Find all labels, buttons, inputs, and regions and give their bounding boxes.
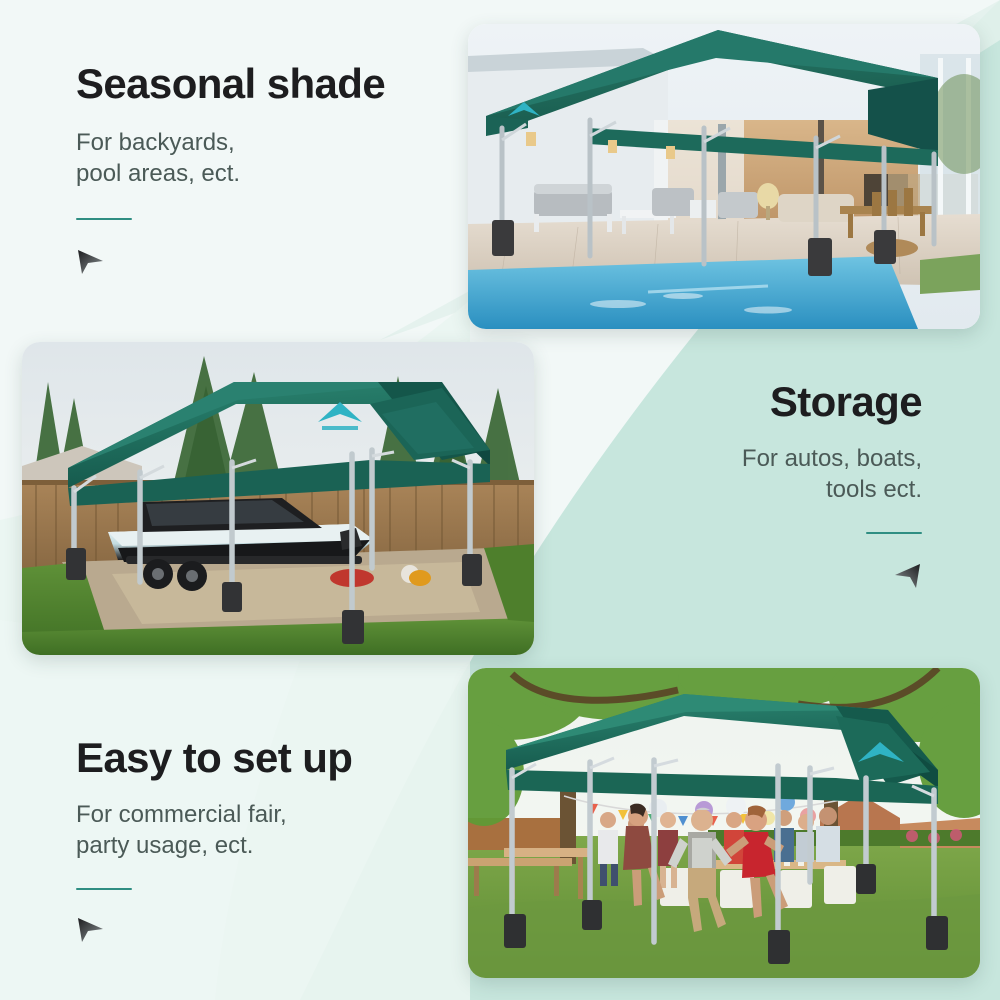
cursor-arrow-left-icon [742, 562, 922, 590]
accent-rule-storage [866, 532, 922, 534]
block-title-seasonal-shade: Seasonal shade [76, 62, 385, 106]
cursor-arrow-right-icon [76, 916, 352, 944]
infographic-root: Seasonal shade For backyards, pool areas… [0, 0, 1000, 1000]
photo-card-garden-party[interactable] [468, 668, 980, 978]
block-subtitle-storage: For autos, boats, tools ect. [742, 444, 922, 505]
cursor-arrow-right-icon [76, 248, 385, 276]
block-subtitle-seasonal-shade: For backyards, pool areas, ect. [76, 128, 385, 189]
block-title-storage: Storage [742, 380, 922, 424]
block-subtitle-easy-to-set-up: For commercial fair, party usage, ect. [76, 800, 352, 861]
garden-party-photo [468, 668, 980, 978]
block-title-easy-to-set-up: Easy to set up [76, 736, 352, 780]
feature-block-storage: Storage For autos, boats, tools ect. [742, 380, 922, 590]
feature-block-easy-to-set-up: Easy to set up For commercial fair, part… [76, 736, 352, 944]
photo-card-pool-patio[interactable] [468, 24, 980, 329]
feature-block-seasonal-shade: Seasonal shade For backyards, pool areas… [76, 62, 385, 276]
boat-carport-photo [22, 342, 534, 655]
accent-rule-easy-to-set-up [76, 888, 132, 890]
pool-patio-photo [468, 24, 980, 329]
accent-rule-seasonal-shade [76, 218, 132, 220]
photo-card-boat-carport[interactable] [22, 342, 534, 655]
